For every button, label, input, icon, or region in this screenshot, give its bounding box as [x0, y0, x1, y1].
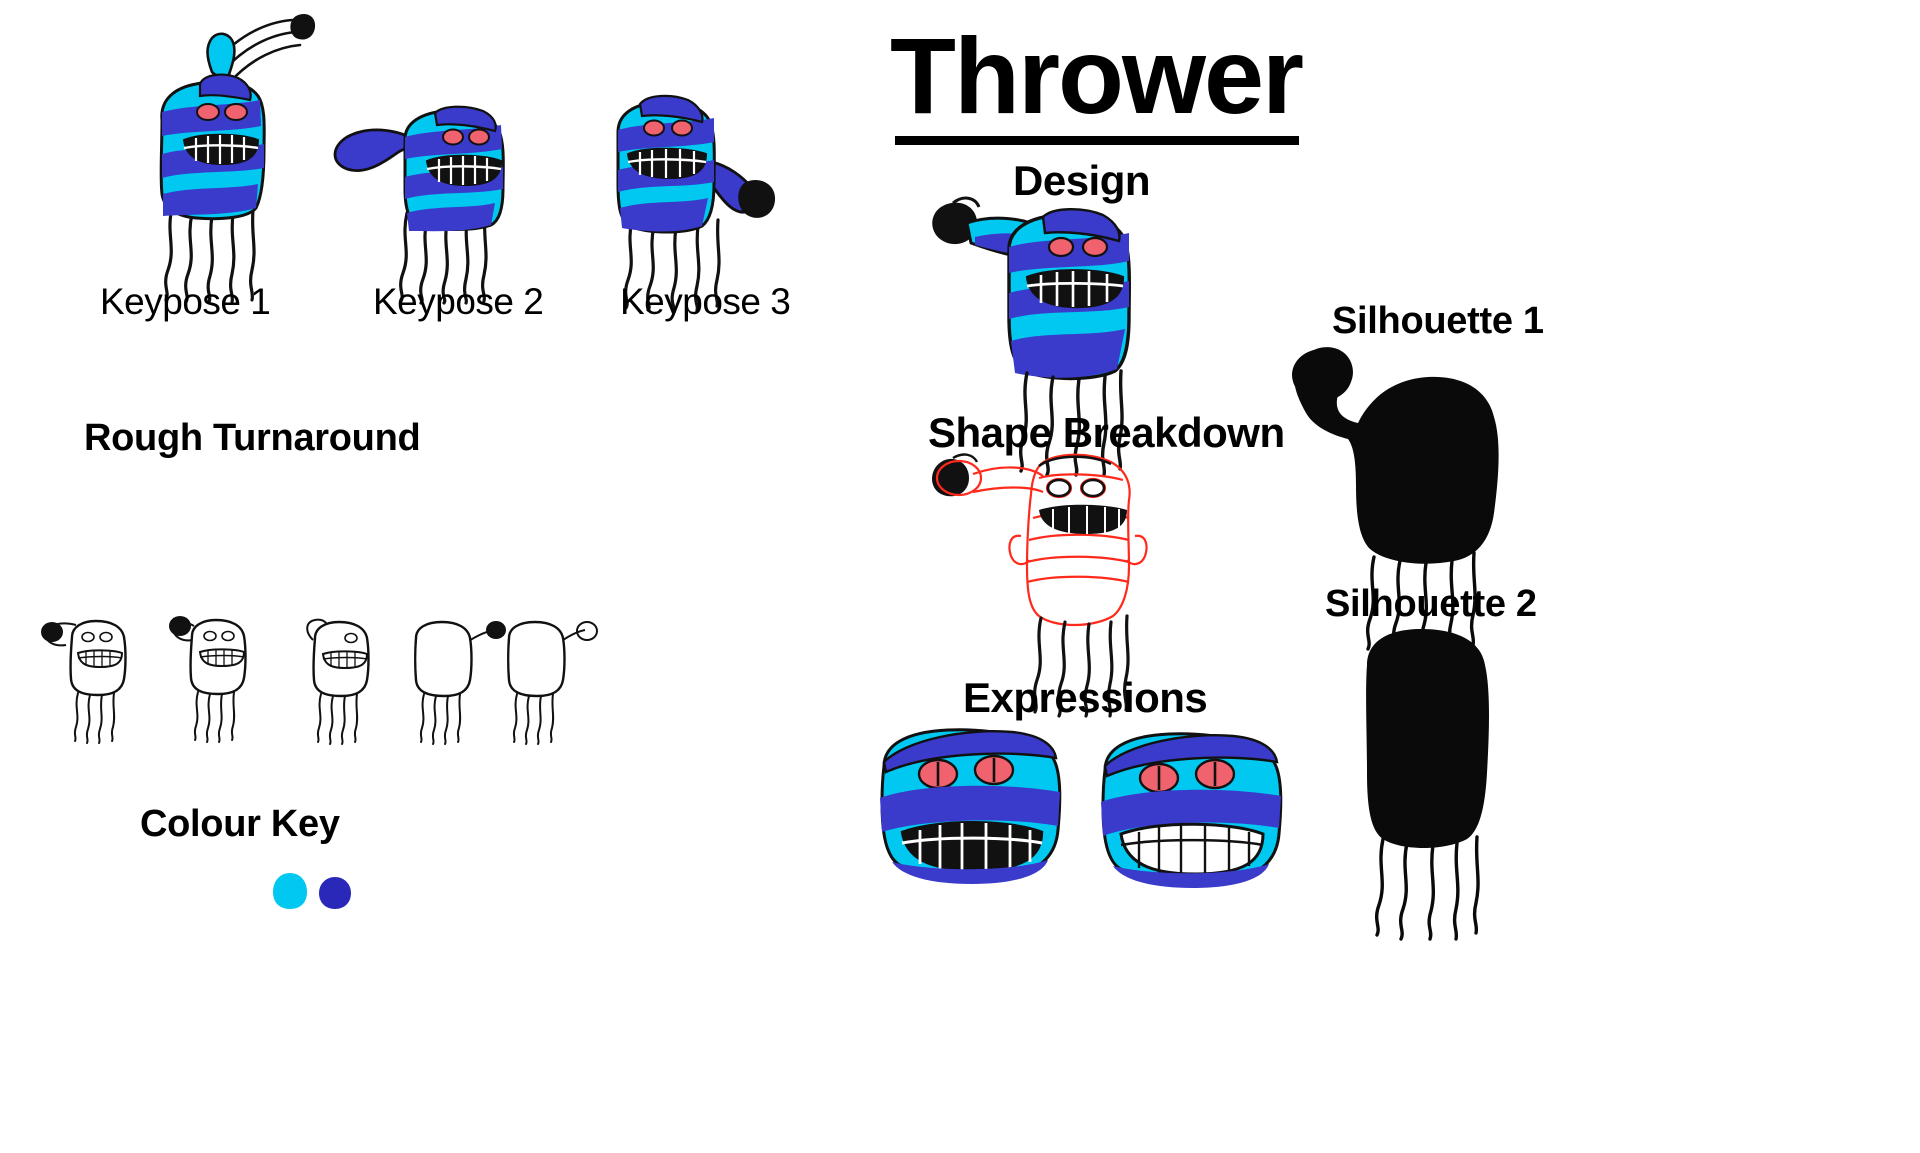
turnaround-view-1: [38, 615, 148, 740]
blue-swatch: [318, 876, 352, 910]
colour-key-heading: Colour Key: [140, 805, 340, 843]
keypose-3-caption: Keypose 3: [620, 283, 790, 320]
page-title: Thrower: [890, 22, 1302, 130]
turnaround-view-5: [495, 618, 605, 742]
turnaround-view-3: [283, 614, 393, 742]
keypose-3-artwork: [600, 70, 820, 300]
expressions-heading: Expressions: [963, 677, 1207, 719]
keypose-2-artwork: [325, 85, 545, 300]
keypose-2-caption: Keypose 2: [373, 283, 543, 320]
shape-breakdown-artwork: [915, 448, 1165, 648]
keypose-1-caption: Keypose 1: [100, 283, 270, 320]
character-design-sheet: Thrower: [0, 0, 1920, 1153]
keypose-1-artwork: [100, 8, 320, 298]
rough-turnaround-heading: Rough Turnaround: [84, 419, 420, 457]
expression-1-artwork: [862, 722, 1077, 892]
silhouette-2-label: Silhouette 2: [1325, 585, 1537, 623]
cyan-swatch: [272, 872, 308, 910]
title-underline: [895, 136, 1299, 145]
silhouette-1-artwork: [1262, 335, 1512, 615]
expression-2-artwork: [1085, 722, 1300, 892]
design-artwork: [905, 185, 1175, 415]
silhouette-2-artwork: [1345, 625, 1525, 915]
turnaround-view-4: [400, 616, 510, 742]
turnaround-view-2: [158, 612, 268, 740]
